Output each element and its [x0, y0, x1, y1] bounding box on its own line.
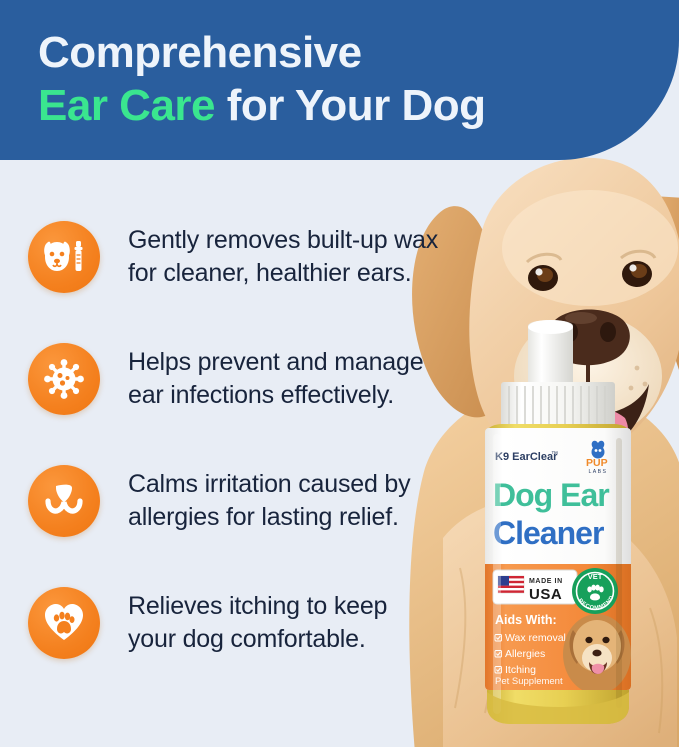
germ-virus-icon	[43, 358, 85, 400]
svg-text:VET: VET	[588, 572, 603, 581]
svg-text:Allergies: Allergies	[505, 648, 545, 660]
feature-text-4-line-2: your dog comfortable.	[128, 623, 387, 656]
header-banner: Comprehensive Ear Care for Your Dog	[0, 0, 679, 160]
feature-text-2-line-1: Helps prevent and manage	[128, 346, 423, 379]
svg-text:LABS: LABS	[589, 469, 608, 475]
feature-text-1: Gently removes built-up wax for cleaner,…	[128, 224, 438, 290]
headline-line-1: Comprehensive	[38, 26, 679, 79]
product-bottle: K9 EarClear ™ PUP LABS Dog Ear Cleaner	[473, 320, 643, 730]
feature-item-wax-removal: Gently removes built-up wax for cleaner,…	[0, 196, 500, 318]
feature-icon-circle-3	[28, 465, 100, 537]
feature-text-3-line-1: Calms irritation caused by	[128, 468, 410, 501]
feature-item-itching: Relieves itching to keep your dog comfor…	[0, 562, 500, 684]
feature-text-4: Relieves itching to keep your dog comfor…	[128, 590, 387, 656]
feature-item-infection: Helps prevent and manage ear infections …	[0, 318, 500, 440]
feature-icon-circle-4	[28, 587, 100, 659]
svg-text:PUP: PUP	[586, 457, 608, 469]
feature-text-1-line-2: for cleaner, healthier ears.	[128, 257, 438, 290]
feature-text-2: Helps prevent and manage ear infections …	[128, 346, 423, 412]
headline-line-2: Ear Care for Your Dog	[38, 79, 679, 132]
svg-text:USA: USA	[529, 586, 562, 603]
dog-dropper-icon	[41, 236, 87, 278]
feature-item-allergies: Calms irritation caused by allergies for…	[0, 440, 500, 562]
svg-text:Itching: Itching	[505, 664, 536, 676]
feature-text-3-line-2: allergies for lasting relief.	[128, 501, 410, 534]
svg-text:Cleaner: Cleaner	[493, 515, 604, 551]
svg-text:Wax removal: Wax removal	[505, 632, 566, 644]
headline-rest: for Your Dog	[215, 81, 486, 130]
feature-text-1-line-1: Gently removes built-up wax	[128, 224, 438, 257]
feature-text-3: Calms irritation caused by allergies for…	[128, 468, 410, 534]
svg-text:K9 EarClear: K9 EarClear	[495, 451, 558, 463]
heart-paw-icon	[43, 603, 85, 643]
svg-text:Dog Ear: Dog Ear	[493, 477, 609, 513]
product-marketing-image: K9 EarClear ™ PUP LABS Dog Ear Cleaner	[0, 0, 679, 747]
feature-list: Gently removes built-up wax for cleaner,…	[0, 196, 500, 684]
svg-text:MADE IN: MADE IN	[529, 578, 563, 585]
dog-snout-icon	[43, 483, 85, 519]
svg-text:Pet Supplement: Pet Supplement	[495, 676, 563, 687]
headline-accent: Ear Care	[38, 81, 215, 130]
feature-icon-circle-1	[28, 221, 100, 293]
feature-text-4-line-1: Relieves itching to keep	[128, 590, 387, 623]
svg-text:Aids With:: Aids With:	[495, 613, 557, 627]
svg-text:™: ™	[551, 451, 558, 458]
feature-icon-circle-2	[28, 343, 100, 415]
feature-text-2-line-2: ear infections effectively.	[128, 379, 423, 412]
